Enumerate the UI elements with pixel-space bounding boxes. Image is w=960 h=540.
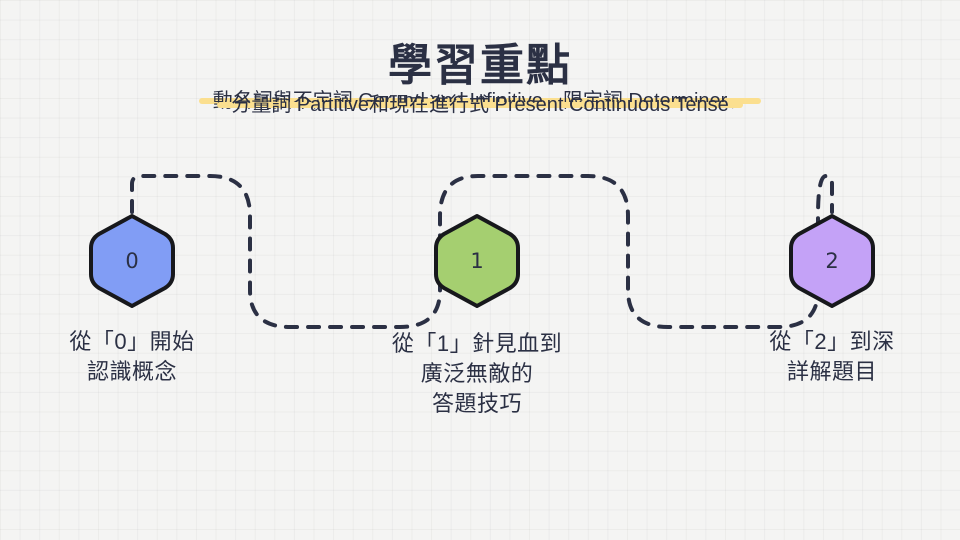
slide-canvas: 學習重點 動名詞與不定詞 Gerund and Infinitive、限定詞 D… — [0, 0, 960, 540]
step-caption-1: 從「1」針見血到 廣泛無敵的 答題技巧 — [377, 329, 577, 419]
hexagon-1-number: 1 — [433, 213, 521, 309]
hexagon-0-number: 0 — [88, 213, 176, 309]
hexagon-2[interactable]: 2 — [788, 213, 876, 309]
step-caption-2: 從「2」到深 詳解題目 — [732, 327, 932, 387]
page-title: 學習重點 — [0, 40, 960, 92]
step-node-2[interactable]: 2 從「2」到深 詳解題目 — [732, 213, 932, 387]
subtitle-highlight-block: 動名詞與不定詞 Gerund and Infinitive、限定詞 Determ… — [0, 98, 960, 108]
step-node-0[interactable]: 0 從「0」開始 認識概念 — [32, 213, 232, 387]
hexagon-2-number: 2 — [788, 213, 876, 309]
hexagon-0[interactable]: 0 — [88, 213, 176, 309]
step-caption-0: 從「0」開始 認識概念 — [32, 327, 232, 387]
subtitle-row-2: 分量詞 Partitive和現在進行式 Present Continuous T… — [0, 102, 960, 108]
hexagon-1[interactable]: 1 — [433, 213, 521, 309]
subtitle-line-2: 分量詞 Partitive和現在進行式 Present Continuous T… — [217, 102, 743, 108]
step-node-1[interactable]: 1 從「1」針見血到 廣泛無敵的 答題技巧 — [377, 213, 577, 419]
